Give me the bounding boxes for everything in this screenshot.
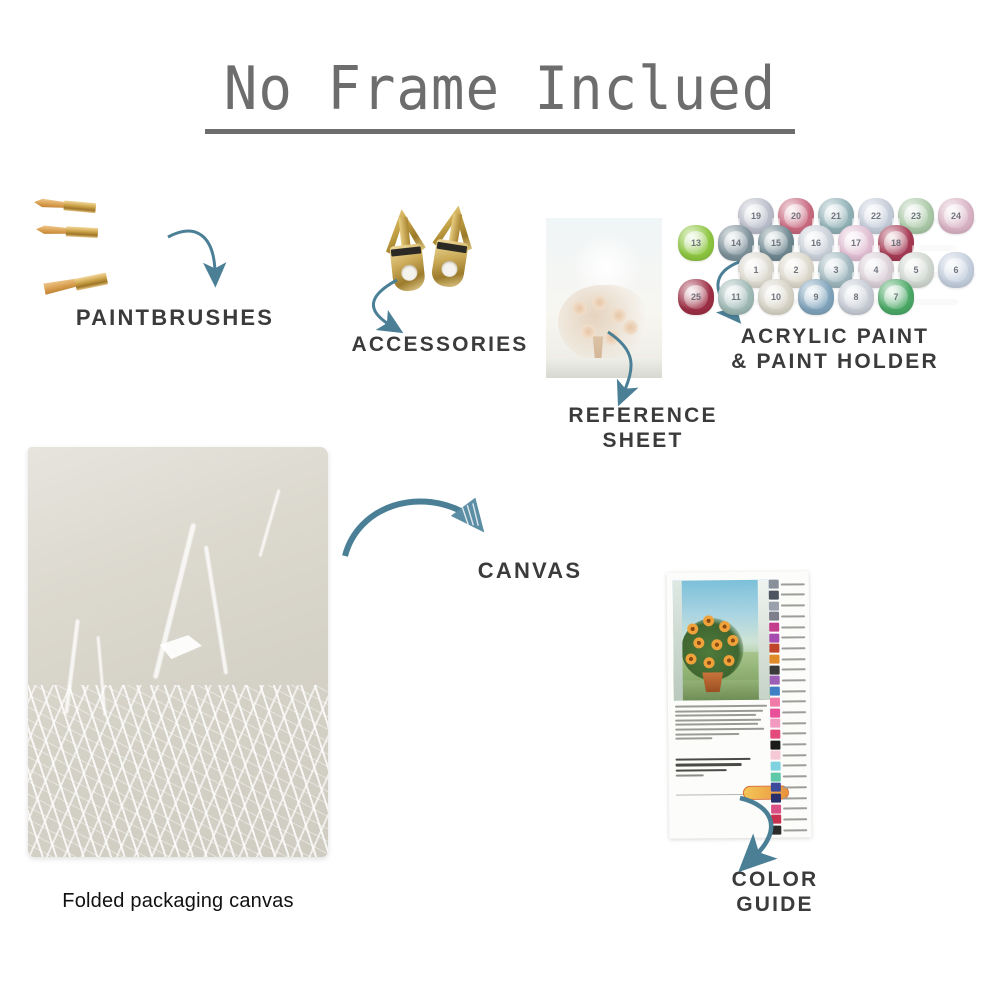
color-swatch-label xyxy=(781,647,805,649)
color-swatch-chip xyxy=(770,676,780,685)
color-swatch-label xyxy=(783,797,807,799)
paint-pot: 8 xyxy=(838,279,874,315)
paintbrushes-label: PAINTBRUSHES xyxy=(20,305,330,331)
color-swatch-row xyxy=(771,761,807,771)
artwork-ground xyxy=(674,680,770,701)
infographic-canvas: No Frame Inclued PAINTBRUSHES xyxy=(0,0,1000,1000)
brush-bristle xyxy=(34,197,67,210)
reference-petal xyxy=(581,324,596,339)
paint-pot: 24 xyxy=(938,198,974,234)
paint-pot-number: 6 xyxy=(953,265,958,275)
color-swatch-label xyxy=(783,754,807,756)
color-swatch-label xyxy=(783,818,807,820)
color-guide-credit xyxy=(676,758,758,780)
color-swatch-row xyxy=(769,601,805,611)
color-guide-artwork xyxy=(673,580,770,701)
page-title: No Frame Inclued xyxy=(224,58,776,121)
artwork-sunflower xyxy=(723,655,734,666)
color-swatch-label xyxy=(781,594,805,596)
color-swatch-row xyxy=(770,675,806,685)
brush-bristle xyxy=(43,276,79,296)
arrow-to-canvas xyxy=(345,501,470,556)
paint-pot-number: 2 xyxy=(793,265,798,275)
color-swatch-label xyxy=(781,604,805,606)
color-swatch-chip xyxy=(770,665,780,674)
color-swatch-label xyxy=(782,743,806,745)
paint-pot: 10 xyxy=(758,279,794,315)
color-swatch-label xyxy=(783,765,807,767)
color-swatch-row xyxy=(769,643,805,653)
color-swatch-row xyxy=(771,772,807,782)
paint-pot-number: 23 xyxy=(911,211,921,221)
arrow-to-canvas-head xyxy=(451,494,498,540)
artwork-sunflower xyxy=(703,657,714,668)
reference-petal xyxy=(604,330,619,345)
color-swatch-label xyxy=(782,690,806,692)
color-swatch-row xyxy=(769,579,805,589)
paint-pot-number: 21 xyxy=(831,211,841,221)
paint-pot-number: 19 xyxy=(751,211,761,221)
color-guide-swatch-list xyxy=(769,579,808,835)
color-swatch-label xyxy=(782,669,806,671)
acrylic-paint-label: ACRYLIC PAINT & PAINT HOLDER xyxy=(685,325,985,375)
color-swatch-row xyxy=(769,622,805,632)
artwork-window-frame-left xyxy=(673,581,683,701)
paint-pot-number: 10 xyxy=(771,292,781,302)
color-swatch-chip xyxy=(771,826,781,835)
paint-pot-number: 11 xyxy=(731,292,741,302)
paint-pot-number: 25 xyxy=(691,292,701,302)
accessories-image xyxy=(382,205,488,291)
folded-canvas-bag-image xyxy=(28,447,328,857)
color-swatch-label xyxy=(782,658,806,660)
color-swatch-chip xyxy=(770,729,780,738)
color-swatch-row xyxy=(770,718,806,728)
color-swatch-row xyxy=(771,814,807,824)
color-swatch-chip xyxy=(770,719,780,728)
color-swatch-row xyxy=(770,708,806,718)
color-swatch-row xyxy=(770,740,806,750)
reference-petal xyxy=(572,301,587,316)
color-swatch-chip xyxy=(770,687,780,696)
color-swatch-row xyxy=(771,804,807,814)
color-swatch-chip xyxy=(769,644,779,653)
brush-bristle xyxy=(36,224,68,236)
artwork-sunflower xyxy=(727,635,738,646)
paint-pot-number: 13 xyxy=(691,238,701,248)
color-swatch-chip xyxy=(769,623,779,632)
paintbrushes-image xyxy=(28,192,328,297)
paint-pot: 6 xyxy=(938,252,974,288)
bag-sheen xyxy=(204,546,228,675)
acrylic-paint-image: 192021222324131415161718123456251110987 xyxy=(718,198,980,308)
color-swatch-chip xyxy=(770,708,780,717)
color-swatch-chip xyxy=(770,697,780,706)
color-swatch-label xyxy=(782,722,806,724)
color-swatch-chip xyxy=(771,762,781,771)
artwork-sunflower xyxy=(719,621,730,632)
color-swatch-chip xyxy=(769,591,779,600)
color-swatch-row xyxy=(769,611,805,621)
bag-sheen xyxy=(258,489,280,557)
color-swatch-row xyxy=(770,697,806,707)
artwork-sunflower xyxy=(687,623,698,634)
color-swatch-chip xyxy=(769,580,779,589)
artwork-sunflower xyxy=(711,639,722,650)
paint-pot-number: 9 xyxy=(813,292,818,302)
paint-pot-number: 7 xyxy=(893,292,898,302)
color-swatch-chip xyxy=(769,633,779,642)
folded-canvas-caption: Folded packaging canvas xyxy=(28,890,328,913)
brush-ferrule xyxy=(66,226,98,238)
paint-pot-number: 16 xyxy=(811,238,821,248)
reference-windowsill xyxy=(546,358,662,378)
paint-pot: 9 xyxy=(798,279,834,315)
color-swatch-label xyxy=(781,626,805,628)
color-swatch-chip xyxy=(771,815,781,824)
color-swatch-row xyxy=(769,654,805,664)
color-swatch-chip xyxy=(771,783,781,792)
paint-pot-number: 5 xyxy=(913,265,918,275)
color-swatch-chip xyxy=(771,804,781,813)
reference-sheet-label: REFERENCE SHEET xyxy=(498,404,788,454)
d-ring-hanger-right xyxy=(422,202,483,292)
artwork-sunflower xyxy=(693,637,704,648)
color-swatch-row xyxy=(770,750,806,760)
paint-pot: 11 xyxy=(718,279,754,315)
page-title-block: No Frame Inclued xyxy=(0,58,1000,134)
color-swatch-chip xyxy=(769,612,779,621)
color-swatch-label xyxy=(781,637,805,639)
color-swatch-row xyxy=(770,665,806,675)
color-swatch-chip xyxy=(769,655,779,664)
paint-pot: 7 xyxy=(878,279,914,315)
color-guide-instructions xyxy=(675,705,767,743)
color-swatch-chip xyxy=(770,740,780,749)
reference-petal xyxy=(623,320,638,335)
color-swatch-row xyxy=(769,590,805,600)
color-swatch-label xyxy=(783,786,807,788)
color-swatch-label xyxy=(783,829,807,831)
artwork-sunflower xyxy=(685,653,696,664)
color-swatch-row xyxy=(771,825,807,835)
paint-pot-number: 1 xyxy=(753,265,758,275)
color-swatch-row xyxy=(770,729,806,739)
artwork-sunflower xyxy=(703,615,714,626)
color-guide-image xyxy=(667,571,812,838)
color-swatch-chip xyxy=(770,751,780,760)
accessories-label: ACCESSORIES xyxy=(295,333,585,358)
color-swatch-label xyxy=(783,808,807,810)
brush-ferrule xyxy=(74,272,108,290)
color-swatch-row xyxy=(769,633,805,643)
paint-pot-number: 3 xyxy=(833,265,838,275)
color-swatch-label xyxy=(782,733,806,735)
color-swatch-label xyxy=(781,615,805,617)
color-guide-signature-rule xyxy=(676,794,750,796)
brush-ferrule xyxy=(63,200,96,213)
color-swatch-row xyxy=(771,782,807,792)
title-underline xyxy=(205,129,795,134)
color-swatch-chip xyxy=(771,772,781,781)
color-swatch-chip xyxy=(769,601,779,610)
paint-pot-number: 22 xyxy=(871,211,881,221)
color-swatch-label xyxy=(783,775,807,777)
reference-petal xyxy=(611,308,626,323)
color-swatch-row xyxy=(771,793,807,803)
canvas-label: CANVAS xyxy=(420,558,640,584)
paint-pot: 25 xyxy=(678,279,714,315)
color-swatch-label xyxy=(781,583,805,585)
color-swatch-row xyxy=(770,686,806,696)
paint-pot-number: 20 xyxy=(791,211,801,221)
color-swatch-label xyxy=(782,679,806,681)
paintbrush-round-small xyxy=(38,198,300,231)
paint-pot-number: 17 xyxy=(851,238,861,248)
color-guide-label: COLOR GUIDE xyxy=(655,868,895,918)
paint-pot-number: 18 xyxy=(891,238,901,248)
paint-pot-number: 15 xyxy=(771,238,781,248)
bag-crinkle-texture xyxy=(28,685,328,857)
color-swatch-label xyxy=(782,701,806,703)
paint-pot-number: 4 xyxy=(873,265,878,275)
color-swatch-chip xyxy=(771,794,781,803)
paint-pot: 13 xyxy=(678,225,714,261)
paint-pot-number: 8 xyxy=(853,292,858,302)
reference-sheet-image xyxy=(546,218,662,378)
color-swatch-label xyxy=(782,711,806,713)
paint-pot-number: 14 xyxy=(731,238,741,248)
paint-pot-number: 24 xyxy=(951,211,961,221)
